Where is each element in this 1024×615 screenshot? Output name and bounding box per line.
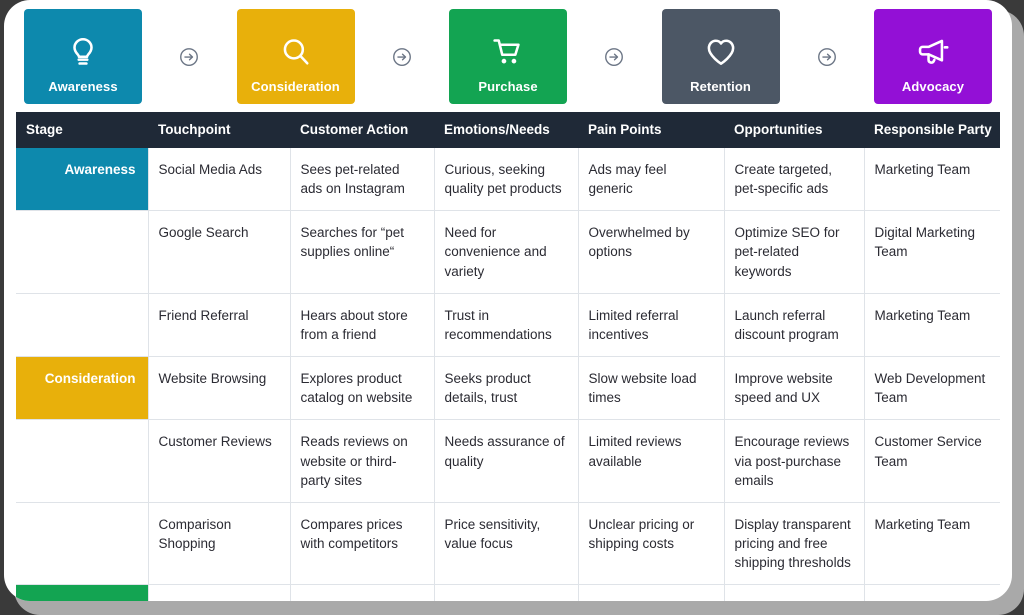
search-icon-wrap: [241, 25, 351, 80]
column-header-pain-points[interactable]: Pain Points: [578, 112, 724, 148]
stage-card-purchase[interactable]: Purchase: [449, 9, 567, 104]
stage-card-label: Consideration: [251, 80, 340, 93]
opportunities-cell: Simplify checkout with guest option: [724, 585, 864, 601]
stage-connector-0: [142, 46, 237, 68]
table-header-row: StageTouchpointCustomer ActionEmotions/N…: [16, 112, 1000, 148]
cart-icon: [491, 35, 525, 69]
search-icon: [279, 35, 313, 69]
customer-action-cell: Reads reviews on website or third-party …: [290, 420, 434, 502]
megaphone-icon: [916, 35, 950, 69]
stage-connector-3: [780, 46, 875, 68]
touchpoint-cell: Friend Referral: [148, 293, 290, 356]
emotions-needs-cell: Seeks product details, trust: [434, 357, 578, 420]
stage-strip: AwarenessConsiderationPurchaseRetentionA…: [4, 0, 1012, 112]
journey-map-card: AwarenessConsiderationPurchaseRetentionA…: [4, 0, 1012, 601]
responsible-party-cell: Marketing Team: [864, 293, 1000, 356]
stage-card-advocacy[interactable]: Advocacy: [874, 9, 992, 104]
heart-icon-wrap: [666, 25, 776, 80]
table-row: AwarenessSocial Media AdsSees pet-relate…: [16, 148, 1000, 211]
journey-table: StageTouchpointCustomer ActionEmotions/N…: [16, 112, 1000, 601]
pain-points-cell: Complicated checkout steps: [578, 585, 724, 601]
emotions-needs-cell: Need for convenience and variety: [434, 211, 578, 293]
stage-card-awareness[interactable]: Awareness: [24, 9, 142, 104]
emotions-needs-cell: Trust in recommendations: [434, 293, 578, 356]
column-header-stage[interactable]: Stage: [16, 112, 148, 148]
opportunities-cell: Launch referral discount program: [724, 293, 864, 356]
emotions-needs-cell: Price sensitivity, value focus: [434, 502, 578, 584]
lightbulb-icon-wrap: [28, 25, 138, 80]
column-header-opportunities[interactable]: Opportunities: [724, 112, 864, 148]
heart-icon: [704, 35, 738, 69]
column-header-responsible-party[interactable]: Responsible Party: [864, 112, 1000, 148]
circle-arrow-right-icon: [603, 46, 625, 68]
touchpoint-cell: Checkout Process: [148, 585, 290, 601]
opportunities-cell: Create targeted, pet-specific ads: [724, 148, 864, 211]
responsible-party-cell: Web Development Team: [864, 585, 1000, 601]
responsible-party-cell: Web Development Team: [864, 357, 1000, 420]
column-header-customer-action[interactable]: Customer Action: [290, 112, 434, 148]
stage-cell: [16, 211, 148, 293]
table-row: Google SearchSearches for “pet supplies …: [16, 211, 1000, 293]
pain-points-cell: Overwhelmed by options: [578, 211, 724, 293]
stage-cell: [16, 420, 148, 502]
table-row: PurchaseCheckout ProcessCompletes purcha…: [16, 585, 1000, 601]
touchpoint-cell: Comparison Shopping: [148, 502, 290, 584]
stage-connector-2: [567, 46, 662, 68]
customer-action-cell: Compares prices with competitors: [290, 502, 434, 584]
cart-icon-wrap: [453, 25, 563, 80]
stage-card-label: Awareness: [48, 80, 117, 93]
customer-action-cell: Hears about store from a friend: [290, 293, 434, 356]
stage-card-consideration[interactable]: Consideration: [237, 9, 355, 104]
emotions-needs-cell: Curious, seeking quality pet products: [434, 148, 578, 211]
pain-points-cell: Slow website load times: [578, 357, 724, 420]
customer-action-cell: Searches for “pet supplies online“: [290, 211, 434, 293]
column-header-touchpoint[interactable]: Touchpoint: [148, 112, 290, 148]
pain-points-cell: Limited reviews available: [578, 420, 724, 502]
customer-action-cell: Completes purchase on website: [290, 585, 434, 601]
stage-connector-1: [355, 46, 450, 68]
opportunities-cell: Encourage reviews via post-purchase emai…: [724, 420, 864, 502]
circle-arrow-right-icon: [391, 46, 413, 68]
responsible-party-cell: Marketing Team: [864, 148, 1000, 211]
touchpoint-cell: Customer Reviews: [148, 420, 290, 502]
megaphone-icon-wrap: [878, 25, 988, 80]
stage-cell: Awareness: [16, 148, 148, 211]
stage-cell: [16, 502, 148, 584]
circle-arrow-right-icon: [816, 46, 838, 68]
stage-cell: [16, 293, 148, 356]
emotions-needs-cell: Needs assurance of quality: [434, 420, 578, 502]
stage-card-label: Retention: [690, 80, 751, 93]
pain-points-cell: Limited referral incentives: [578, 293, 724, 356]
table-row: ConsiderationWebsite BrowsingExplores pr…: [16, 357, 1000, 420]
opportunities-cell: Optimize SEO for pet-related keywords: [724, 211, 864, 293]
lightbulb-icon: [66, 35, 100, 69]
journey-map-page: AwarenessConsiderationPurchaseRetentionA…: [0, 0, 1024, 615]
emotions-needs-cell: Wants quick, secure process: [434, 585, 578, 601]
pain-points-cell: Ads may feel generic: [578, 148, 724, 211]
stage-card-label: Purchase: [478, 80, 537, 93]
table-body: AwarenessSocial Media AdsSees pet-relate…: [16, 148, 1000, 601]
stage-cell: Purchase: [16, 585, 148, 601]
column-header-emotions-needs[interactable]: Emotions/Needs: [434, 112, 578, 148]
opportunities-cell: Display transparent pricing and free shi…: [724, 502, 864, 584]
stage-cell: Consideration: [16, 357, 148, 420]
responsible-party-cell: Customer Service Team: [864, 420, 1000, 502]
pain-points-cell: Unclear pricing or shipping costs: [578, 502, 724, 584]
stage-card-label: Advocacy: [902, 80, 964, 93]
customer-action-cell: Sees pet-related ads on Instagram: [290, 148, 434, 211]
table-row: Friend ReferralHears about store from a …: [16, 293, 1000, 356]
customer-action-cell: Explores product catalog on website: [290, 357, 434, 420]
table-row: Comparison ShoppingCompares prices with …: [16, 502, 1000, 584]
touchpoint-cell: Google Search: [148, 211, 290, 293]
table-row: Customer ReviewsReads reviews on website…: [16, 420, 1000, 502]
touchpoint-cell: Social Media Ads: [148, 148, 290, 211]
responsible-party-cell: Marketing Team: [864, 502, 1000, 584]
circle-arrow-right-icon: [178, 46, 200, 68]
opportunities-cell: Improve website speed and UX: [724, 357, 864, 420]
stage-card-retention[interactable]: Retention: [662, 9, 780, 104]
responsible-party-cell: Digital Marketing Team: [864, 211, 1000, 293]
touchpoint-cell: Website Browsing: [148, 357, 290, 420]
